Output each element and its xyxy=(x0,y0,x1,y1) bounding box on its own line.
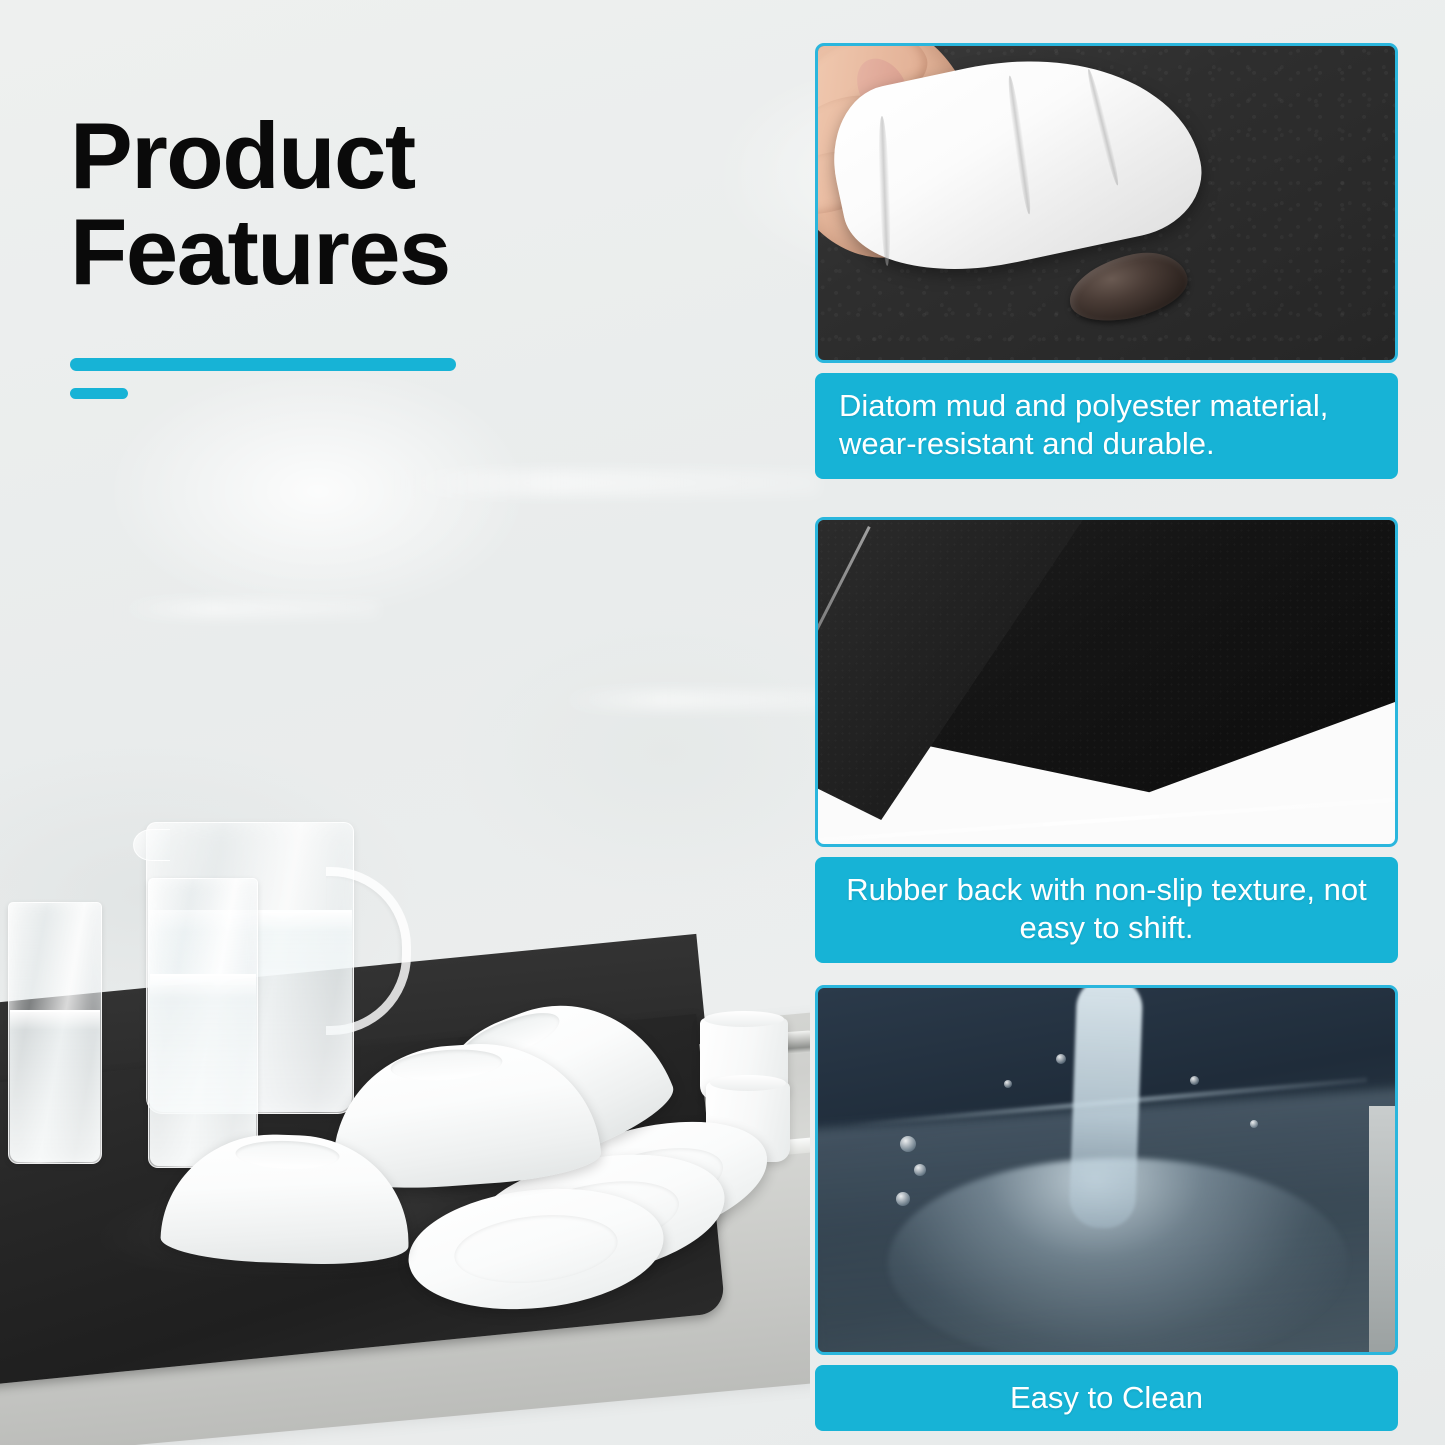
product-features-infographic: Product Features xyxy=(0,0,1445,1445)
water-rinsing-mat-photo xyxy=(815,985,1398,1355)
cloth-fold xyxy=(1085,68,1122,186)
water-droplet xyxy=(1250,1120,1258,1128)
feature-card-easy-clean: Easy to Clean xyxy=(815,985,1398,1431)
rubber-texture xyxy=(818,520,1395,844)
cloth-fold xyxy=(1005,75,1033,215)
feature-card-durability: Diatom mud and polyester material, wear-… xyxy=(815,43,1398,479)
water-glass xyxy=(8,902,102,1164)
feature-card-non-slip: Rubber back with non-slip texture, not e… xyxy=(815,517,1398,963)
feature-caption-durability: Diatom mud and polyester material, wear-… xyxy=(815,373,1398,479)
title-underline-short xyxy=(70,388,128,399)
glass-water xyxy=(10,1010,100,1162)
water-droplet xyxy=(896,1192,910,1206)
water-droplet xyxy=(900,1136,916,1152)
page-title: Product Features xyxy=(70,108,710,300)
water-droplet xyxy=(1056,1054,1066,1064)
dish-drying-mat-lifestyle-photo xyxy=(0,760,810,1445)
water-stream xyxy=(1069,985,1144,1229)
page-title-line-2: Features xyxy=(70,204,710,300)
page-title-line-1: Product xyxy=(70,108,710,204)
hand-lifting-cloth-photo xyxy=(815,43,1398,363)
water-droplet xyxy=(1004,1080,1012,1088)
feature-caption-easy-clean: Easy to Clean xyxy=(815,1365,1398,1431)
water-droplet xyxy=(1190,1076,1199,1085)
glass-water xyxy=(150,974,256,1166)
title-underline-long xyxy=(70,358,456,371)
pitcher-spout xyxy=(133,829,170,861)
folded-rubber-back-photo xyxy=(815,517,1398,847)
feature-caption-non-slip: Rubber back with non-slip texture, not e… xyxy=(815,857,1398,963)
cloth-fold xyxy=(877,116,892,266)
sink-edge xyxy=(1369,1106,1395,1355)
water-glass xyxy=(148,878,258,1168)
water-droplet xyxy=(914,1164,926,1176)
